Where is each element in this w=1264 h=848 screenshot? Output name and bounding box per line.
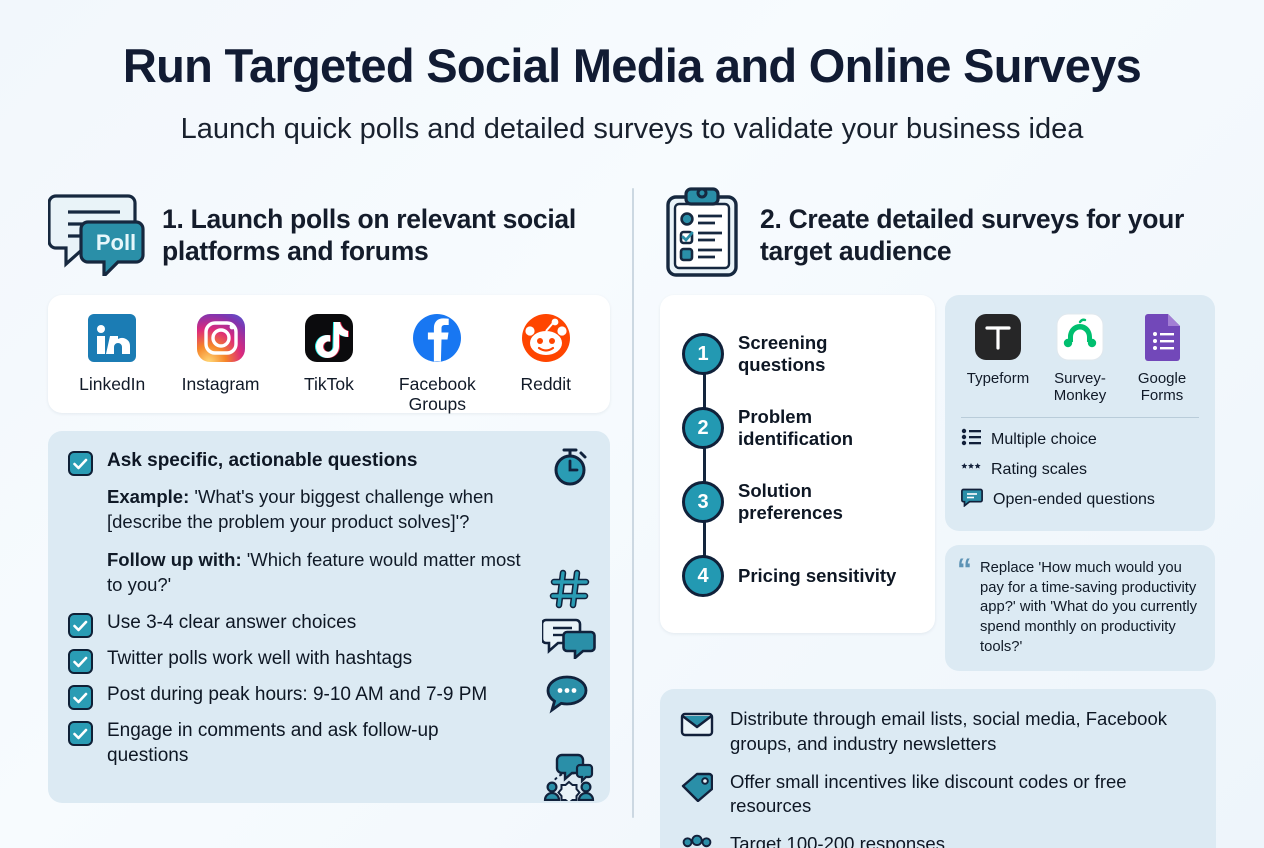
page-subtitle: Launch quick polls and detailed surveys …	[0, 113, 1264, 146]
checklist-item[interactable]: Engage in comments and ask follow-up que…	[68, 719, 592, 768]
tool-surveymonkey[interactable]: Survey-Monkey	[1040, 309, 1120, 405]
checklist-item[interactable]: Post during peak hours: 9-10 AM and 7-9 …	[68, 683, 592, 710]
checklist-item-label: Post during peak hours: 9-10 AM and 7-9 …	[107, 683, 543, 707]
tools-divider	[961, 417, 1199, 419]
feature-item: Multiple choice	[957, 428, 1203, 451]
svg-text:Poll: Poll	[96, 230, 136, 255]
typeform-icon	[958, 309, 1038, 365]
left-section-header: Poll 1. Launch polls on relevant social …	[48, 183, 610, 287]
survey-tools-card: Typeform	[945, 295, 1215, 531]
platform-label: Facebook Groups	[385, 375, 489, 414]
hashtag-icon	[548, 567, 592, 616]
step-number: 3	[682, 481, 724, 523]
feature-item: Open-ended questions	[957, 488, 1203, 512]
distribution-item: Distribute through email lists, social m…	[680, 707, 1196, 755]
distribution-text: Target 100-200 responses	[730, 832, 945, 848]
two-speech-bubbles-icon	[542, 617, 596, 664]
tool-row: Typeform	[957, 309, 1203, 405]
checkbox-checked-icon	[68, 613, 93, 638]
platform-facebook-groups[interactable]: Facebook Groups	[385, 309, 489, 414]
right-column: 2. Create detailed surveys for your targ…	[660, 183, 1216, 848]
step-item[interactable]: 4 Pricing sensitivity	[682, 539, 917, 613]
step-number: 2	[682, 407, 724, 449]
left-section-title: 1. Launch polls on relevant social platf…	[162, 203, 610, 268]
social-platforms-card: LinkedIn	[48, 295, 610, 413]
platform-instagram[interactable]: Instagram	[169, 309, 273, 395]
google-forms-icon	[1122, 309, 1202, 365]
distribution-text: Distribute through email lists, social m…	[730, 707, 1196, 755]
poll-speech-bubble-icon: Poll	[48, 190, 146, 281]
left-column: Poll 1. Launch polls on relevant social …	[48, 183, 610, 803]
step-item[interactable]: 3 Solution preferences	[682, 465, 917, 539]
step-connector-line	[703, 353, 706, 573]
people-group-icon	[680, 834, 714, 848]
platform-label: Instagram	[169, 375, 273, 395]
tool-google-forms[interactable]: Google Forms	[1122, 309, 1202, 405]
checklist-item[interactable]: Use 3-4 clear answer choices	[68, 611, 592, 638]
step-label: Pricing sensitivity	[738, 565, 896, 587]
facebook-icon	[385, 309, 489, 367]
right-upper-row: 1 Screening questions 2 Problem identifi…	[660, 287, 1216, 671]
platform-linkedin[interactable]: LinkedIn	[60, 309, 164, 395]
quote-text: Replace 'How much would you pay for a ti…	[980, 559, 1201, 657]
platform-label: LinkedIn	[60, 375, 164, 395]
stopwatch-icon	[550, 445, 590, 492]
instagram-icon	[169, 309, 273, 367]
quote-callout-card: “ Replace 'How much would you pay for a …	[945, 545, 1215, 671]
feature-item: Rating scales	[957, 458, 1203, 481]
step-item[interactable]: 2 Problem identification	[682, 391, 917, 465]
tools-and-quote-column: Typeform	[945, 287, 1215, 671]
checklist-item-label: Use 3-4 clear answer choices	[107, 611, 412, 635]
checkbox-checked-icon	[68, 685, 93, 710]
followup-question-block: Follow up with: 'Which feature would mat…	[107, 548, 592, 597]
tool-typeform[interactable]: Typeform	[958, 309, 1038, 388]
infographic-page: Run Targeted Social Media and Online Sur…	[0, 0, 1264, 848]
step-label: Screening questions	[738, 332, 917, 376]
platform-label: TikTok	[277, 375, 381, 395]
distribution-item: Target 100-200 responses	[680, 832, 1196, 848]
tiktok-icon	[277, 309, 381, 367]
linkedin-icon	[60, 309, 164, 367]
platform-label: Reddit	[494, 375, 598, 395]
checklist-item[interactable]: Ask specific, actionable questions	[68, 449, 592, 476]
bullet-list-icon	[961, 428, 981, 451]
checkbox-checked-icon	[68, 451, 93, 476]
tool-label: Survey-Monkey	[1040, 371, 1120, 405]
example-lead: Example:	[107, 486, 189, 507]
reddit-icon	[494, 309, 598, 367]
distribution-tips-card: Distribute through email lists, social m…	[660, 689, 1216, 848]
step-number: 1	[682, 333, 724, 375]
distribution-text: Offer small incentives like discount cod…	[730, 770, 1196, 818]
example-question-block: Example: 'What's your biggest challenge …	[107, 485, 592, 534]
platform-tiktok[interactable]: TikTok	[277, 309, 381, 395]
right-section-title: 2. Create detailed surveys for your targ…	[760, 203, 1216, 268]
checklist-item-label: Engage in comments and ask follow-up que…	[107, 719, 592, 768]
right-section-header: 2. Create detailed surveys for your targ…	[660, 183, 1216, 287]
survey-steps-card: 1 Screening questions 2 Problem identifi…	[660, 295, 935, 633]
tag-icon	[680, 772, 714, 802]
checklist-item[interactable]: Twitter polls work well with hashtags	[68, 647, 592, 674]
feature-label: Open-ended questions	[993, 491, 1155, 509]
step-item[interactable]: 1 Screening questions	[682, 317, 917, 391]
followup-lead: Follow up with:	[107, 549, 242, 570]
checkbox-checked-icon	[68, 649, 93, 674]
speech-bubble-icon	[961, 488, 983, 512]
group-discussion-icon	[542, 751, 596, 806]
column-divider	[632, 188, 634, 818]
surveymonkey-icon	[1040, 309, 1120, 365]
checkbox-checked-icon	[68, 721, 93, 746]
comment-dots-icon	[544, 673, 590, 720]
three-stars-icon	[961, 458, 981, 481]
tool-label: Typeform	[958, 371, 1038, 388]
platform-reddit[interactable]: Reddit	[494, 309, 598, 395]
checklist-item-label: Twitter polls work well with hashtags	[107, 647, 468, 671]
checklist-item-label: Ask specific, actionable questions	[107, 449, 473, 473]
distribution-item: Offer small incentives like discount cod…	[680, 770, 1196, 818]
tool-label: Google Forms	[1122, 371, 1202, 405]
quote-mark-icon: “	[957, 559, 972, 657]
clipboard-checklist-icon	[660, 185, 744, 286]
step-label: Solution preferences	[738, 480, 917, 524]
step-number: 4	[682, 555, 724, 597]
envelope-icon	[680, 709, 714, 737]
step-label: Problem identification	[738, 406, 917, 450]
poll-tips-checklist-card: Ask specific, actionable questions Examp…	[48, 431, 610, 803]
page-title: Run Targeted Social Media and Online Sur…	[0, 38, 1264, 93]
feature-label: Rating scales	[991, 461, 1087, 479]
feature-label: Multiple choice	[991, 431, 1097, 449]
